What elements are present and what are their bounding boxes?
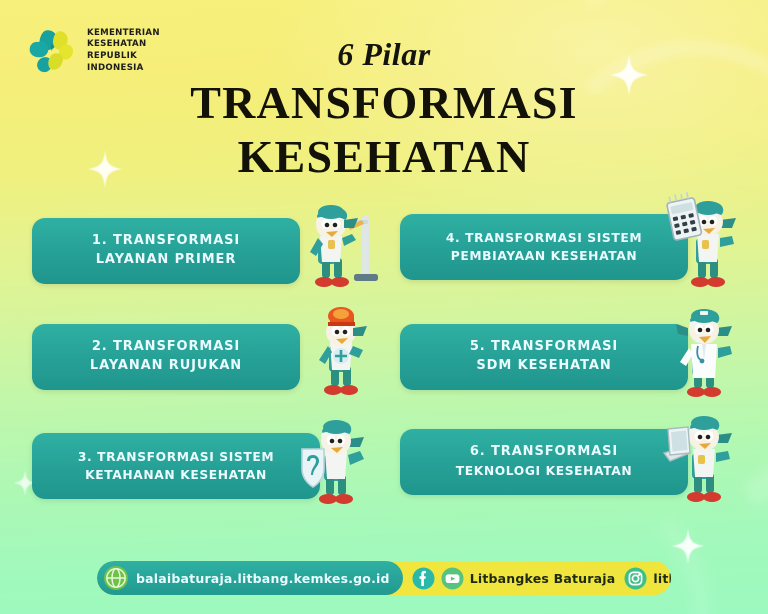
- mascot-bird-with-red-helmet: [297, 302, 401, 406]
- title-line-2: KESEHATAN: [0, 130, 768, 184]
- facebook-icon[interactable]: [412, 567, 435, 590]
- mascot-bird-with-shield: [290, 411, 394, 515]
- pillar-card-1[interactable]: 1. TRANSFORMASI LAYANAN PRIMER: [32, 210, 332, 284]
- globe-icon: [103, 565, 129, 591]
- pillar-2-line-2: LAYANAN RUJUKAN: [90, 359, 242, 374]
- pillar-6-pill[interactable]: 6. TRANSFORMASI TEKNOLOGI KESEHATAN: [400, 429, 688, 495]
- pillar-card-3[interactable]: 3. TRANSFORMASI SISTEM KETAHANAN KESEHAT…: [32, 425, 332, 499]
- pillar-4-line-2: PEMBIAYAAN KESEHATAN: [451, 249, 638, 263]
- instagram-group[interactable]: litbangkesbaturaja: [615, 567, 671, 590]
- pillar-5-pill[interactable]: 5. TRANSFORMASI SDM KESEHATAN: [400, 324, 688, 390]
- pillar-4-line-1: 4. TRANSFORMASI SISTEM: [446, 231, 642, 245]
- pillar-3-line-2: KETAHANAN KESEHATAN: [85, 468, 267, 482]
- pillar-card-4[interactable]: 4. TRANSFORMASI SISTEM PEMBIAYAAN KESEHA…: [400, 206, 700, 280]
- mascot-bird-with-height-scale: [290, 196, 394, 300]
- pillar-card-6[interactable]: 6. TRANSFORMASI TEKNOLOGI KESEHATAN: [400, 421, 700, 495]
- sparkle-icon: [672, 528, 704, 564]
- infographic-poster: KEMENTERIAN KESEHATAN REPUBLIK INDONESIA…: [0, 0, 768, 614]
- pillar-card-2[interactable]: 2. TRANSFORMASI LAYANAN RUJUKAN: [32, 316, 332, 390]
- pillar-5-line-2: SDM KESEHATAN: [476, 359, 611, 374]
- title-line-1: TRANSFORMASI: [0, 76, 768, 130]
- social-name: Litbangkes Baturaja: [470, 571, 616, 586]
- title-kicker: 6 Pilar: [0, 38, 768, 72]
- website-url: balaibaturaja.litbang.kemkes.go.id: [136, 571, 390, 586]
- mascot-bird-with-calculator: [662, 192, 766, 296]
- pillar-3-line-1: 3. TRANSFORMASI SISTEM: [78, 450, 274, 464]
- website-group[interactable]: balaibaturaja.litbang.kemkes.go.id: [97, 561, 403, 595]
- pillar-4-pill[interactable]: 4. TRANSFORMASI SISTEM PEMBIAYAAN KESEHA…: [400, 214, 688, 280]
- mascot-bird-with-laptop: [658, 407, 762, 511]
- pillar-card-5[interactable]: 5. TRANSFORMASI SDM KESEHATAN: [400, 316, 700, 390]
- pillar-6-line-2: TEKNOLOGI KESEHATAN: [456, 464, 633, 478]
- instagram-icon[interactable]: [624, 567, 647, 590]
- pillar-3-pill[interactable]: 3. TRANSFORMASI SISTEM KETAHANAN KESEHAT…: [32, 433, 320, 499]
- page-title: 6 Pilar TRANSFORMASI KESEHATAN: [0, 38, 768, 184]
- footer-bar: balaibaturaja.litbang.kemkes.go.id Litba…: [97, 561, 671, 595]
- youtube-icon[interactable]: [441, 567, 464, 590]
- instagram-handle: litbangkesbaturaja: [653, 571, 671, 586]
- pillar-1-line-2: LAYANAN PRIMER: [96, 253, 236, 268]
- mascot-bird-with-lab-coat: [658, 302, 762, 406]
- pillar-1-line-1: 1. TRANSFORMASI: [92, 234, 240, 249]
- pillar-2-pill[interactable]: 2. TRANSFORMASI LAYANAN RUJUKAN: [32, 324, 300, 390]
- pillar-2-line-1: 2. TRANSFORMASI: [92, 340, 240, 355]
- social-group[interactable]: Litbangkes Baturaja: [403, 567, 616, 590]
- pillar-5-line-1: 5. TRANSFORMASI: [470, 340, 618, 355]
- pillar-6-line-1: 6. TRANSFORMASI: [470, 445, 618, 460]
- pillar-1-pill[interactable]: 1. TRANSFORMASI LAYANAN PRIMER: [32, 218, 300, 284]
